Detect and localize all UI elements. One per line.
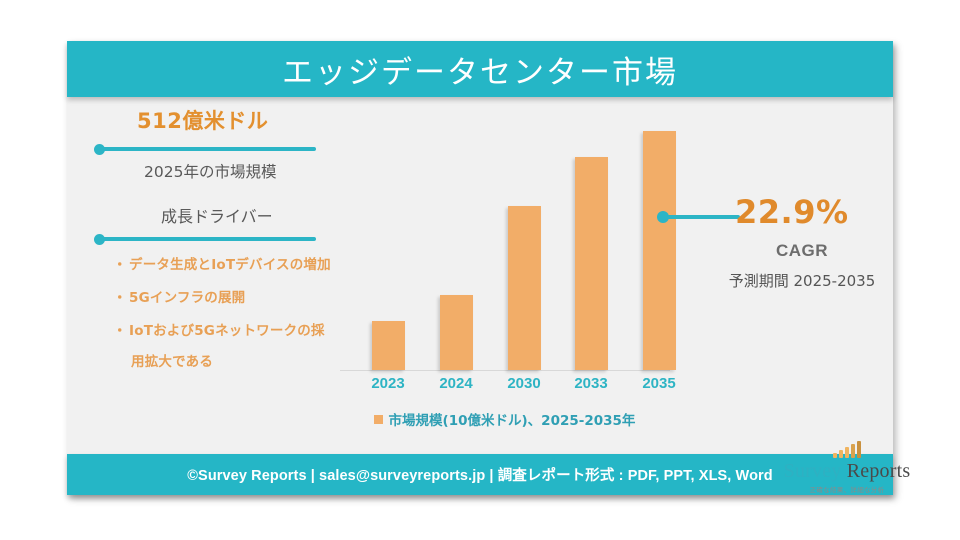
cagr-value-row: 22.9% — [687, 193, 887, 233]
x-tick-label: 2024 — [439, 375, 472, 392]
x-tick-label: 2035 — [642, 375, 675, 392]
infographic-card: エッジデータセンター市場 ©Survey Reports | sales@sur… — [67, 41, 893, 495]
logo-tagline: 正確な結果、詳細な分析 — [757, 484, 937, 494]
footer-text: ©Survey Reports | sales@surveyreports.jp… — [187, 464, 772, 485]
cagr-value: 22.9% — [735, 193, 849, 231]
cagr-forecast-period: 予測期間 2025-2035 — [717, 270, 887, 291]
bullet-icon: ・ — [113, 290, 127, 307]
chart-legend: 市場規模(10億米ドル)、2025-2035年 — [332, 409, 677, 429]
logo-wordmark: Survey Reports — [757, 460, 937, 483]
page-title: エッジデータセンター市場 — [67, 41, 893, 97]
list-item-label: データ生成とIoTデバイスの増加 — [129, 257, 331, 273]
legend-swatch-icon — [374, 415, 383, 424]
x-tick-label: 2030 — [507, 375, 540, 392]
market-size-bar-chart: 2023 2024 2030 2033 2035 市場規模(10億米ドル)、20… — [332, 113, 677, 413]
list-item-label: IoTおよび5Gネットワークの採 — [129, 323, 325, 339]
logo-word-secondary: Reports — [842, 460, 911, 482]
chart-x-tick-labels: 2023 2024 2030 2033 2035 — [332, 375, 677, 395]
x-tick-label: 2033 — [574, 375, 607, 392]
bar-2023 — [372, 321, 405, 370]
bullet-icon: ・ — [113, 257, 127, 274]
bar-2024 — [440, 295, 473, 370]
brand-logo: Survey Reports 正確な結果、詳細な分析 — [757, 439, 937, 494]
bar-chart-icon — [757, 439, 937, 458]
cagr-label: CAGR — [717, 241, 887, 261]
bar-2033 — [575, 157, 608, 370]
logo-word-primary: Survey — [784, 460, 842, 482]
cagr-block: 22.9% CAGR 予測期間 2025-2035 — [687, 193, 887, 291]
infographic-canvas: Sales@SurveyReports.jp www.SurveyReports… — [0, 0, 960, 540]
bar-2035 — [643, 131, 676, 370]
cagr-connector-line — [665, 215, 740, 219]
chart-x-axis — [340, 370, 670, 371]
list-item-label: 5Gインフラの展開 — [129, 290, 245, 306]
divider-rule-bottom — [101, 237, 316, 241]
x-tick-label: 2023 — [371, 375, 404, 392]
chart-plot-area — [332, 113, 677, 371]
divider-rule-top — [101, 147, 316, 151]
bar-2030 — [508, 206, 541, 370]
legend-label: 市場規模(10億米ドル)、2025-2035年 — [389, 409, 636, 429]
bullet-icon: ・ — [113, 323, 127, 340]
